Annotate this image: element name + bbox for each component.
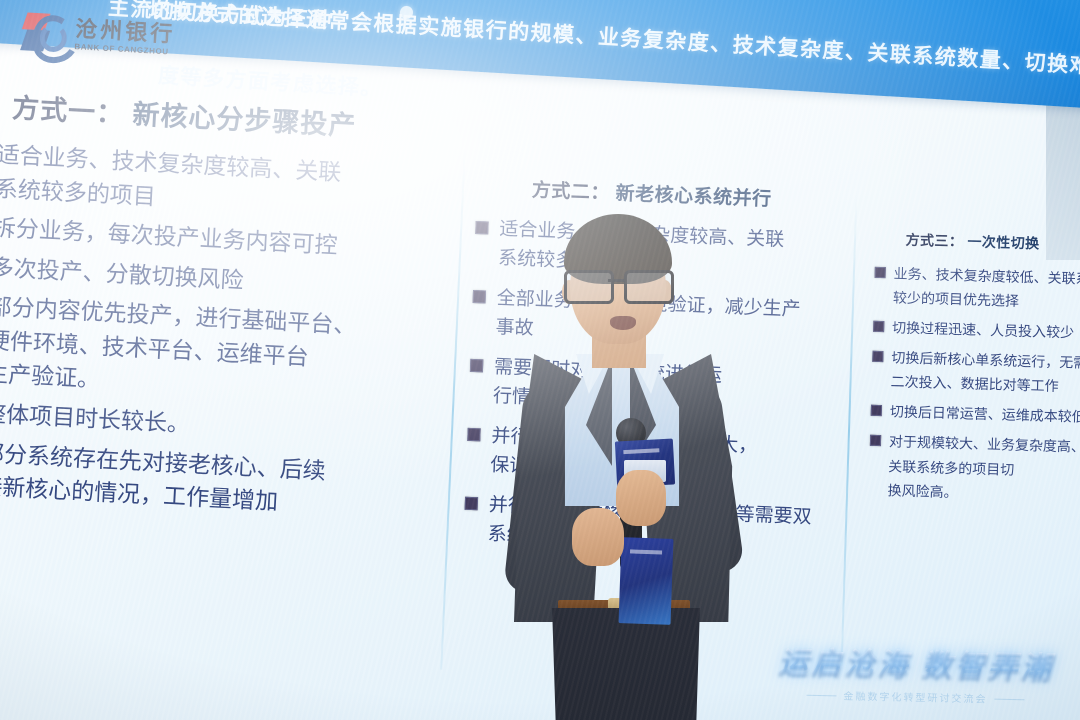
bank-name-cn: 沧州银行 bbox=[75, 18, 176, 46]
presentation-photo: 信创环境的切换方式 主流的切换方式为三种 切换方式的选择通常会根据实施银行的规模… bbox=[0, 0, 1080, 720]
list-item: 切换后日常运营、运维成本较低 bbox=[871, 399, 1080, 429]
speaker-person bbox=[498, 208, 748, 720]
list-item: 业务、技术复杂度较低、关联系统 较少的项目优先选择 bbox=[874, 261, 1080, 316]
column-1-title-label: 方式一： bbox=[11, 93, 124, 129]
bullet-square-icon bbox=[467, 427, 480, 440]
bullet-square-icon bbox=[475, 221, 488, 234]
slide-column-1: 方式一： 新核心分步骤投产 适合业务、技术复杂度较高、关联 系统较多的项目 拆分… bbox=[0, 84, 443, 533]
column-3-title: 方式三： 一次性切换 bbox=[905, 230, 1080, 256]
speaker-hand-left bbox=[572, 508, 624, 566]
event-slogan: 运启沧海 数智弄潮 bbox=[766, 637, 1067, 687]
glasses-icon bbox=[564, 270, 672, 300]
list-item: 切换过程迅速、人员投入较少 bbox=[873, 315, 1080, 345]
bullet-square-icon bbox=[470, 359, 483, 372]
column-1-title-value: 新核心分步骤投产 bbox=[132, 99, 357, 141]
list-item: 对于规模较大、业务复杂度高、 关联系统多的项目切 换风险高。 bbox=[868, 429, 1080, 508]
speaker-trousers bbox=[542, 608, 710, 720]
bank-logo-emblem-icon bbox=[23, 10, 69, 54]
slide-column-3: 方式三： 一次性切换 业务、技术复杂度较低、关联系统 较少的项目优先选择 切换过… bbox=[868, 229, 1080, 514]
speaker-hand-right bbox=[616, 470, 666, 526]
bullet-square-icon bbox=[875, 267, 886, 278]
list-item: 切换后新核心单系统运行，无需 二次投入、数据比对等工作 bbox=[871, 345, 1080, 400]
bank-logo-text: 沧州银行 BANK OF CANGZHOU bbox=[74, 18, 176, 57]
microphone-flag-lower bbox=[619, 537, 674, 625]
list-item: 部分内容优先投产，进行基础平台、 硬件环境、技术平台、运维平台 生产验证。 bbox=[0, 289, 432, 414]
column-2-title-label: 方式二： bbox=[531, 180, 610, 204]
bank-logo: 沧州银行 BANK OF CANGZHOU bbox=[23, 7, 193, 64]
speaker-mouth bbox=[610, 316, 636, 330]
bullet-square-icon bbox=[465, 496, 478, 509]
column-2-title-value: 新老核心系统并行 bbox=[615, 183, 772, 210]
column-3-title-value: 一次性切换 bbox=[967, 233, 1039, 251]
bullet-square-icon bbox=[473, 290, 486, 303]
bullet-square-icon bbox=[870, 435, 881, 446]
bullet-square-icon bbox=[871, 405, 882, 416]
bullet-square-icon bbox=[872, 351, 883, 362]
event-watermark: 运启沧海 数智弄潮 金融数字化转型研讨交流会 bbox=[765, 637, 1066, 707]
column-3-title-label: 方式三： bbox=[905, 232, 963, 250]
bullet-square-icon bbox=[873, 321, 884, 332]
